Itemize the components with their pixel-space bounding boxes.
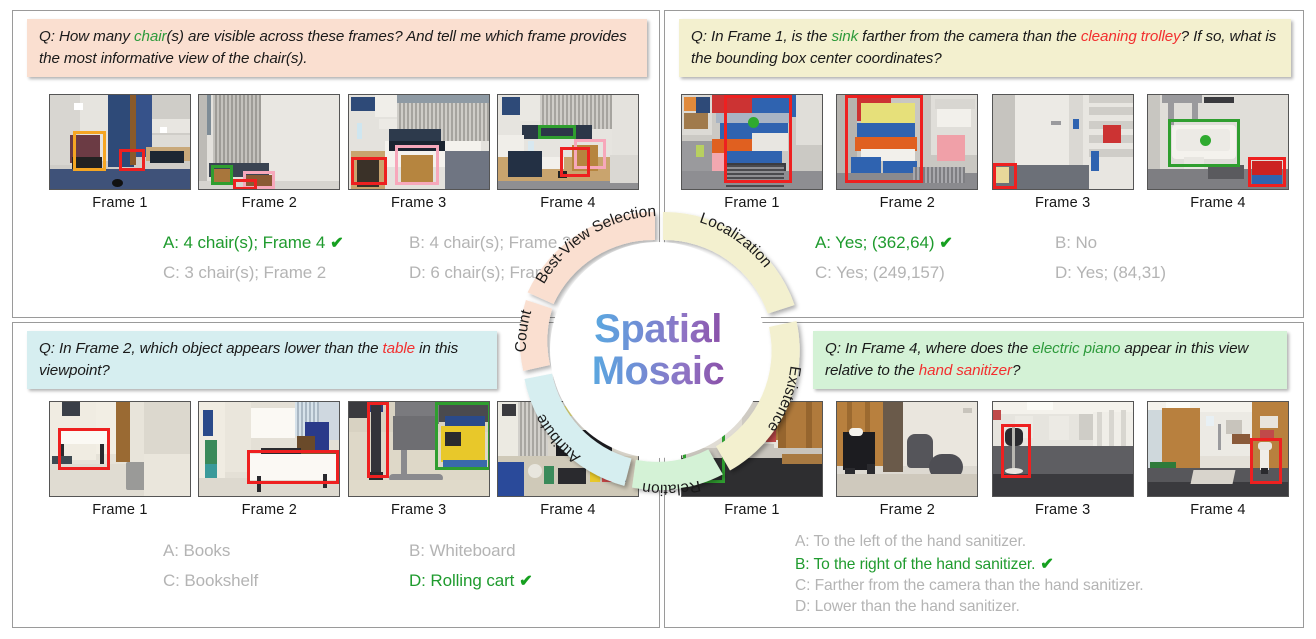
question-highlight-red: table	[383, 340, 415, 357]
answer-option-b[interactable]: B: No	[1055, 233, 1295, 253]
answer-option-a[interactable]: A: 4 chair(s); Frame 4✔	[163, 233, 409, 253]
answer-option-b[interactable]: B: Whiteboard	[409, 541, 655, 561]
frame-thumbnail[interactable]	[49, 401, 191, 497]
frame-item[interactable]: Frame 4	[1147, 94, 1289, 211]
frame-strip-top-left: Frame 1 Frame 2	[49, 94, 639, 211]
frame-strip-bottom-right: Frame 1	[681, 401, 1289, 518]
frame-thumbnail[interactable]	[836, 94, 978, 190]
question-banner-top-right: Q: In Frame 1, is the sink farther from …	[679, 19, 1291, 77]
question-text-part: farther from the camera than the	[858, 28, 1081, 45]
frame-label: Frame 3	[348, 502, 490, 518]
frame-thumbnail[interactable]	[198, 94, 340, 190]
bounding-box-red	[845, 95, 923, 183]
question-highlight-red: cleaning trolley	[1081, 28, 1181, 45]
frame-thumbnail[interactable]	[1147, 401, 1289, 497]
bounding-box-red	[233, 179, 257, 190]
frame-label: Frame 2	[198, 195, 340, 211]
frame-label: Frame 4	[497, 502, 639, 518]
answers-top-right: A: Yes; (362,64)✔ B: No C: Yes; (249,157…	[815, 233, 1295, 283]
answer-option-d[interactable]: D: Rolling cart✔	[409, 571, 655, 591]
panel-relation: Q: In Frame 4, where does the electric p…	[664, 322, 1304, 628]
frame-thumbnail[interactable]	[497, 94, 639, 190]
answer-option-d[interactable]: D: Yes; (84,31)	[1055, 263, 1295, 283]
frame-item[interactable]: Frame 2	[836, 94, 978, 211]
bounding-box-red	[1248, 157, 1286, 187]
frame-thumbnail[interactable]	[348, 401, 490, 497]
question-banner-bottom-left: Q: In Frame 2, which object appears lowe…	[27, 331, 497, 389]
check-icon: ✔	[519, 573, 532, 590]
answers-bottom-right: A: To the left of the hand sanitizer. B:…	[795, 533, 1295, 619]
panel-localization: Q: In Frame 1, is the sink farther from …	[664, 10, 1304, 318]
answer-option-a[interactable]: A: To the left of the hand sanitizer.	[795, 533, 1295, 551]
frame-item[interactable]: Frame 2	[198, 94, 340, 211]
frame-item[interactable]: Frame 3	[348, 94, 490, 211]
answer-option-c[interactable]: C: Yes; (249,157)	[815, 263, 1055, 283]
bounding-box-red	[724, 95, 792, 183]
frame-item[interactable]: Frame 1	[681, 94, 823, 211]
frame-item[interactable]: Frame 4	[497, 401, 639, 518]
bounding-box-red	[367, 402, 389, 478]
answer-option-d[interactable]: D: 6 chair(s); Frame 4	[409, 263, 655, 283]
frame-label: Frame 1	[49, 195, 191, 211]
bounding-box-green	[1168, 119, 1240, 167]
frame-item[interactable]: Frame 1	[49, 94, 191, 211]
frame-item[interactable]: Frame 2	[198, 401, 340, 518]
answer-option-c[interactable]: C: 3 chair(s); Frame 2	[163, 263, 409, 283]
question-text-part: Q: In Frame 2, which object appears lowe…	[39, 340, 383, 357]
frame-thumbnail[interactable]	[992, 401, 1134, 497]
question-highlight-green: chair	[134, 28, 166, 45]
question-highlight-green: electric piano	[1032, 340, 1120, 357]
frame-item[interactable]: Frame 4	[1147, 401, 1289, 518]
bounding-box-green	[435, 402, 490, 470]
frame-label: Frame 2	[836, 195, 978, 211]
panel-best-view-selection: Q: How many chair(s) are visible across …	[12, 10, 660, 318]
bounding-box-red	[58, 428, 110, 470]
frame-thumbnail[interactable]	[992, 94, 1134, 190]
question-text-part: Q: How many	[39, 28, 134, 45]
answer-option-b[interactable]: B: 4 chair(s); Frame 2	[409, 233, 655, 253]
frame-strip-bottom-left: Frame 1	[49, 401, 639, 518]
frame-thumbnail[interactable]	[497, 401, 639, 497]
frame-label: Frame 1	[49, 502, 191, 518]
check-icon: ✔	[330, 235, 343, 252]
frame-label: Frame 1	[681, 502, 823, 518]
question-highlight-red: hand sanitizer	[919, 362, 1012, 379]
frame-label: Frame 4	[1147, 502, 1289, 518]
bounding-box-red	[993, 163, 1017, 189]
answer-option-a[interactable]: A: Books	[163, 541, 409, 561]
bounding-box-red	[247, 450, 339, 484]
frame-thumbnail[interactable]	[836, 401, 978, 497]
frame-strip-top-right: Frame 1	[681, 94, 1289, 211]
frame-label: Frame 1	[681, 195, 823, 211]
frame-label: Frame 2	[198, 502, 340, 518]
frame-label: Frame 2	[836, 502, 978, 518]
answer-option-c[interactable]: C: Farther from the camera than the hand…	[795, 577, 1295, 595]
bounding-box-pink	[395, 145, 439, 185]
answer-option-d[interactable]: D: Lower than the hand sanitizer.	[795, 598, 1295, 616]
question-text-part: ?	[1012, 362, 1020, 379]
check-icon: ✔	[939, 235, 952, 252]
figure-root: Q: How many chair(s) are visible across …	[0, 0, 1316, 639]
answers-top-left: A: 4 chair(s); Frame 4✔ B: 4 chair(s); F…	[163, 233, 655, 283]
panel-attribute: Q: In Frame 2, which object appears lowe…	[12, 322, 660, 628]
bounding-box-red	[119, 149, 145, 171]
question-text-part: Q: In Frame 1, is the	[691, 28, 831, 45]
answer-option-c[interactable]: C: Bookshelf	[163, 571, 409, 591]
frame-item[interactable]: Frame 3	[992, 94, 1134, 211]
question-text-part: Q: In Frame 4, where does the	[825, 340, 1032, 357]
frame-item[interactable]: Frame 4	[497, 94, 639, 211]
answers-bottom-left: A: Books B: Whiteboard C: Bookshelf D: R…	[163, 541, 655, 591]
frame-thumbnail[interactable]	[1147, 94, 1289, 190]
bounding-box-red	[1250, 438, 1282, 484]
frame-thumbnail[interactable]	[681, 94, 823, 190]
frame-label: Frame 4	[1147, 195, 1289, 211]
question-banner-top-left: Q: How many chair(s) are visible across …	[27, 19, 647, 77]
bounding-box-green	[211, 165, 233, 185]
bounding-box-red	[351, 157, 387, 185]
bounding-box-green	[538, 125, 576, 139]
bounding-box-red	[1001, 424, 1031, 478]
check-icon: ✔	[1040, 556, 1053, 573]
answer-option-b[interactable]: B: To the right of the hand sanitizer.✔	[795, 554, 1295, 574]
frame-label: Frame 3	[992, 502, 1134, 518]
question-highlight-green: sink	[831, 28, 858, 45]
answer-option-a[interactable]: A: Yes; (362,64)✔	[815, 233, 1055, 253]
frame-label: Frame 3	[348, 195, 490, 211]
question-banner-bottom-right: Q: In Frame 4, where does the electric p…	[813, 331, 1287, 389]
bounding-box-orange	[73, 131, 106, 171]
frame-item[interactable]: Frame 1	[49, 401, 191, 518]
frame-thumbnail[interactable]	[198, 401, 340, 497]
bounding-box-red	[560, 147, 590, 177]
frame-label: Frame 3	[992, 195, 1134, 211]
frame-label: Frame 4	[497, 195, 639, 211]
bounding-box-green	[683, 425, 725, 483]
frame-thumbnail[interactable]	[348, 94, 490, 190]
frame-item[interactable]: Frame 3	[348, 401, 490, 518]
frame-thumbnail[interactable]	[49, 94, 191, 190]
frame-item[interactable]: Frame 3	[992, 401, 1134, 518]
frame-item[interactable]: Frame 2	[836, 401, 978, 518]
